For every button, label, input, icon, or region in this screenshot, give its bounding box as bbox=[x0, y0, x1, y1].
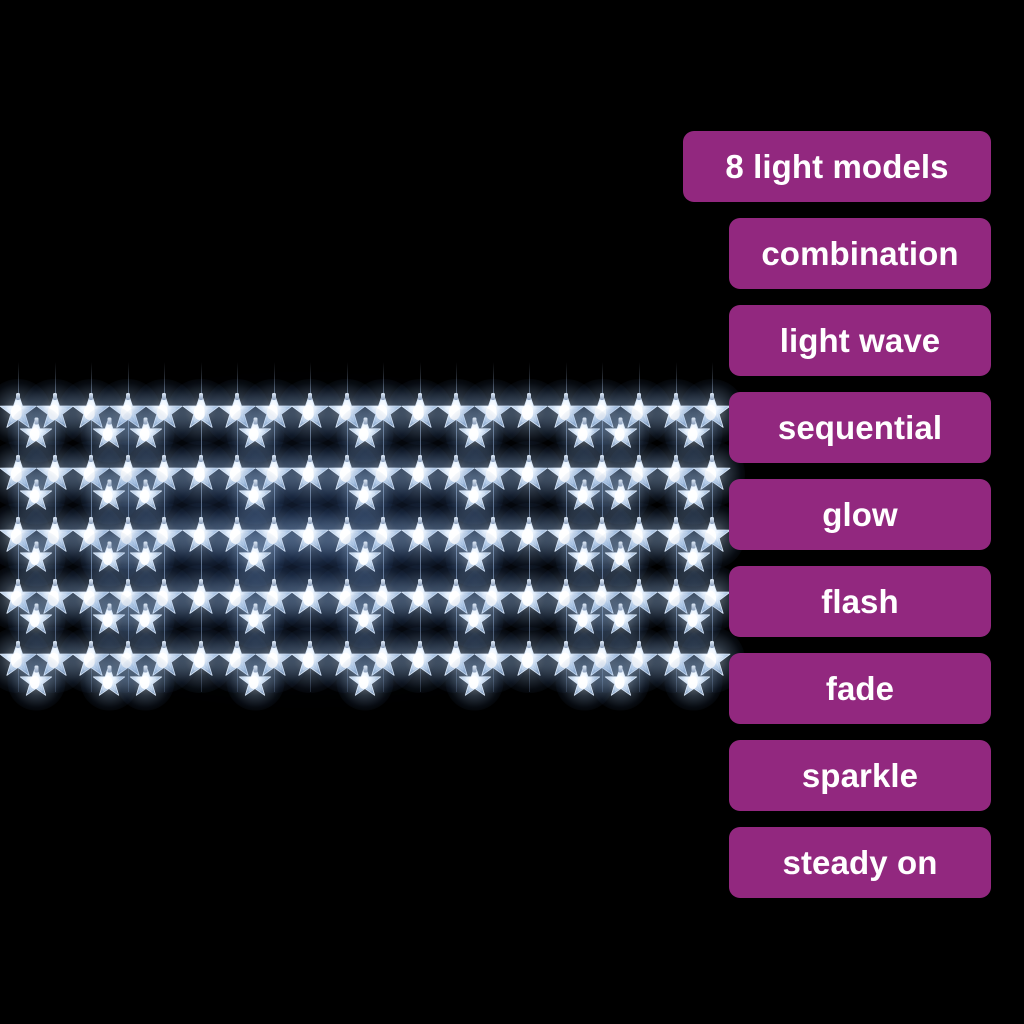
star-cap bbox=[637, 455, 641, 462]
star-cap bbox=[126, 579, 130, 586]
feature-badge-label: flash bbox=[821, 585, 899, 618]
star-light bbox=[510, 579, 548, 617]
star-light bbox=[239, 604, 272, 637]
star-light bbox=[291, 641, 329, 679]
star-cap bbox=[126, 455, 130, 462]
star-cap bbox=[199, 517, 203, 524]
star-light bbox=[20, 542, 53, 575]
star-cap bbox=[637, 579, 641, 586]
star-cap bbox=[473, 418, 477, 425]
star-cap bbox=[162, 579, 166, 586]
star-light bbox=[182, 517, 220, 555]
star-light bbox=[604, 666, 637, 699]
star-cap bbox=[107, 418, 111, 425]
star-light bbox=[401, 579, 439, 617]
star-light bbox=[349, 604, 382, 637]
star-cap bbox=[619, 542, 623, 549]
star-cap bbox=[34, 666, 38, 673]
star-cap bbox=[345, 641, 349, 648]
star-cap bbox=[418, 393, 422, 400]
star-cap bbox=[253, 604, 257, 611]
star-cap bbox=[363, 418, 367, 425]
feature-badge-sparkle: sparkle bbox=[729, 740, 991, 811]
star-light bbox=[568, 480, 601, 513]
star-cap bbox=[473, 480, 477, 487]
feature-badge-label: light wave bbox=[780, 324, 941, 357]
star-light bbox=[604, 480, 637, 513]
star-cap bbox=[454, 641, 458, 648]
star-cap bbox=[600, 517, 604, 524]
star-cap bbox=[491, 517, 495, 524]
star-light bbox=[401, 641, 439, 679]
star-cap bbox=[527, 579, 531, 586]
star-cap bbox=[637, 517, 641, 524]
star-cap bbox=[89, 455, 93, 462]
star-light bbox=[129, 480, 162, 513]
star-cap bbox=[600, 455, 604, 462]
star-cap bbox=[34, 604, 38, 611]
star-cap bbox=[491, 455, 495, 462]
star-cap bbox=[363, 542, 367, 549]
star-cap bbox=[199, 393, 203, 400]
star-cap bbox=[107, 542, 111, 549]
star-cap bbox=[16, 393, 20, 400]
star-cap bbox=[89, 641, 93, 648]
product-feature-image: 8 light modelscombinationlight waveseque… bbox=[0, 0, 1024, 1024]
star-cap bbox=[600, 641, 604, 648]
star-light bbox=[129, 604, 162, 637]
star-cap bbox=[53, 579, 57, 586]
star-light bbox=[20, 418, 53, 451]
star-light bbox=[129, 418, 162, 451]
star-light bbox=[568, 666, 601, 699]
star-light bbox=[568, 542, 601, 575]
star-light bbox=[93, 418, 126, 451]
star-light bbox=[401, 517, 439, 555]
star-cap bbox=[253, 418, 257, 425]
star-cap bbox=[363, 666, 367, 673]
star-light bbox=[129, 542, 162, 575]
star-cap bbox=[381, 517, 385, 524]
star-light bbox=[349, 418, 382, 451]
feature-badge-label: glow bbox=[822, 498, 898, 531]
star-light bbox=[510, 393, 548, 431]
star-light bbox=[458, 542, 491, 575]
feature-badge-8-light-models: 8 light models bbox=[683, 131, 991, 202]
star-cap bbox=[418, 579, 422, 586]
feature-badge-label: 8 light models bbox=[725, 150, 948, 183]
star-cap bbox=[144, 418, 148, 425]
star-light bbox=[458, 480, 491, 513]
star-cap bbox=[381, 393, 385, 400]
star-light bbox=[458, 604, 491, 637]
star-cap bbox=[600, 393, 604, 400]
star-cap bbox=[527, 641, 531, 648]
star-cap bbox=[582, 542, 586, 549]
star-cap bbox=[235, 517, 239, 524]
star-cap bbox=[89, 579, 93, 586]
star-cap bbox=[619, 480, 623, 487]
star-cap bbox=[381, 641, 385, 648]
star-cap bbox=[454, 579, 458, 586]
star-cap bbox=[491, 393, 495, 400]
star-cap bbox=[272, 393, 276, 400]
star-cap bbox=[674, 455, 678, 462]
star-cap bbox=[564, 393, 568, 400]
star-cap bbox=[308, 455, 312, 462]
star-cap bbox=[345, 393, 349, 400]
star-light bbox=[239, 666, 272, 699]
feature-badge-label: combination bbox=[761, 237, 958, 270]
star-cap bbox=[253, 666, 257, 673]
star-light bbox=[510, 641, 548, 679]
star-light bbox=[604, 418, 637, 451]
star-cap bbox=[527, 455, 531, 462]
feature-badge-label: steady on bbox=[783, 846, 938, 879]
star-light bbox=[458, 418, 491, 451]
star-cap bbox=[582, 666, 586, 673]
star-cap bbox=[637, 393, 641, 400]
star-light bbox=[239, 480, 272, 513]
star-light bbox=[20, 480, 53, 513]
star-light bbox=[93, 480, 126, 513]
star-cap bbox=[53, 393, 57, 400]
star-cap bbox=[16, 579, 20, 586]
star-cap bbox=[162, 517, 166, 524]
star-cap bbox=[34, 418, 38, 425]
star-light bbox=[93, 604, 126, 637]
star-cap bbox=[272, 641, 276, 648]
star-cap bbox=[564, 641, 568, 648]
star-light bbox=[182, 641, 220, 679]
star-cap bbox=[674, 641, 678, 648]
star-cap bbox=[345, 455, 349, 462]
star-cap bbox=[162, 641, 166, 648]
star-cap bbox=[491, 579, 495, 586]
star-cap bbox=[381, 579, 385, 586]
star-cap bbox=[308, 641, 312, 648]
star-cap bbox=[235, 579, 239, 586]
star-cap bbox=[418, 641, 422, 648]
star-cap bbox=[619, 666, 623, 673]
star-cap bbox=[363, 604, 367, 611]
star-cap bbox=[53, 455, 57, 462]
star-light bbox=[568, 604, 601, 637]
star-cap bbox=[582, 480, 586, 487]
star-light bbox=[510, 455, 548, 493]
star-cap bbox=[16, 455, 20, 462]
star-light bbox=[401, 455, 439, 493]
star-cap bbox=[674, 517, 678, 524]
star-cap bbox=[235, 455, 239, 462]
feature-badge-steady-on: steady on bbox=[729, 827, 991, 898]
star-light bbox=[604, 542, 637, 575]
star-cap bbox=[89, 393, 93, 400]
star-cap bbox=[619, 418, 623, 425]
star-light bbox=[129, 666, 162, 699]
star-light bbox=[239, 418, 272, 451]
feature-badge-sequential: sequential bbox=[729, 392, 991, 463]
star-light bbox=[568, 418, 601, 451]
star-cap bbox=[418, 517, 422, 524]
star-light bbox=[93, 666, 126, 699]
star-cap bbox=[308, 517, 312, 524]
star-cap bbox=[199, 641, 203, 648]
star-light bbox=[291, 579, 329, 617]
star-cap bbox=[126, 393, 130, 400]
feature-badge-light-wave: light wave bbox=[729, 305, 991, 376]
star-cap bbox=[564, 579, 568, 586]
star-cap bbox=[144, 542, 148, 549]
star-cap bbox=[381, 455, 385, 462]
star-cap bbox=[16, 517, 20, 524]
star-cap bbox=[619, 604, 623, 611]
star-cap bbox=[582, 418, 586, 425]
feature-badge-fade: fade bbox=[729, 653, 991, 724]
star-light bbox=[349, 542, 382, 575]
star-cap bbox=[199, 579, 203, 586]
feature-badge-combination: combination bbox=[729, 218, 991, 289]
star-light bbox=[182, 393, 220, 431]
star-cap bbox=[473, 604, 477, 611]
star-cap bbox=[162, 393, 166, 400]
star-cap bbox=[162, 455, 166, 462]
feature-badge-glow: glow bbox=[729, 479, 991, 550]
star-light bbox=[349, 480, 382, 513]
star-light bbox=[604, 604, 637, 637]
star-cap bbox=[600, 579, 604, 586]
star-light bbox=[291, 455, 329, 493]
star-light bbox=[458, 666, 491, 699]
star-cap bbox=[454, 455, 458, 462]
star-cap bbox=[454, 393, 458, 400]
feature-badge-label: fade bbox=[826, 672, 894, 705]
star-cap bbox=[637, 641, 641, 648]
star-cap bbox=[144, 480, 148, 487]
star-light bbox=[20, 666, 53, 699]
star-cap bbox=[527, 517, 531, 524]
star-cap bbox=[308, 579, 312, 586]
star-cap bbox=[144, 666, 148, 673]
star-light bbox=[239, 542, 272, 575]
star-cap bbox=[582, 604, 586, 611]
star-cap bbox=[144, 604, 148, 611]
star-cap bbox=[34, 542, 38, 549]
star-cap bbox=[199, 455, 203, 462]
star-cap bbox=[34, 480, 38, 487]
star-cap bbox=[107, 480, 111, 487]
feature-badge-label: sparkle bbox=[802, 759, 918, 792]
star-cap bbox=[253, 480, 257, 487]
star-cap bbox=[272, 579, 276, 586]
star-light bbox=[182, 455, 220, 493]
star-cap bbox=[564, 517, 568, 524]
feature-badge-flash: flash bbox=[729, 566, 991, 637]
star-cap bbox=[126, 641, 130, 648]
star-cap bbox=[473, 542, 477, 549]
star-cap bbox=[473, 666, 477, 673]
star-cap bbox=[89, 517, 93, 524]
star-light bbox=[349, 666, 382, 699]
star-cap bbox=[363, 480, 367, 487]
star-cap bbox=[235, 641, 239, 648]
star-cap bbox=[235, 393, 239, 400]
star-cap bbox=[272, 455, 276, 462]
star-cap bbox=[674, 579, 678, 586]
star-cap bbox=[107, 604, 111, 611]
star-cap bbox=[253, 542, 257, 549]
star-light bbox=[291, 517, 329, 555]
star-cap bbox=[308, 393, 312, 400]
star-light bbox=[182, 579, 220, 617]
star-cap bbox=[126, 517, 130, 524]
star-cap bbox=[674, 393, 678, 400]
star-light bbox=[401, 393, 439, 431]
star-cap bbox=[272, 517, 276, 524]
star-cap bbox=[53, 517, 57, 524]
star-cap bbox=[418, 455, 422, 462]
star-cap bbox=[454, 517, 458, 524]
star-cap bbox=[345, 517, 349, 524]
star-cap bbox=[345, 579, 349, 586]
star-light bbox=[291, 393, 329, 431]
star-light bbox=[20, 604, 53, 637]
feature-badge-label: sequential bbox=[778, 411, 942, 444]
star-light bbox=[510, 517, 548, 555]
star-light-curtain bbox=[18, 362, 712, 704]
star-cap bbox=[107, 666, 111, 673]
star-cap bbox=[564, 455, 568, 462]
star-cap bbox=[16, 641, 20, 648]
feature-badge-list: 8 light modelscombinationlight waveseque… bbox=[681, 131, 991, 898]
star-light bbox=[93, 542, 126, 575]
star-cap bbox=[491, 641, 495, 648]
star-cap bbox=[53, 641, 57, 648]
star-cap bbox=[527, 393, 531, 400]
